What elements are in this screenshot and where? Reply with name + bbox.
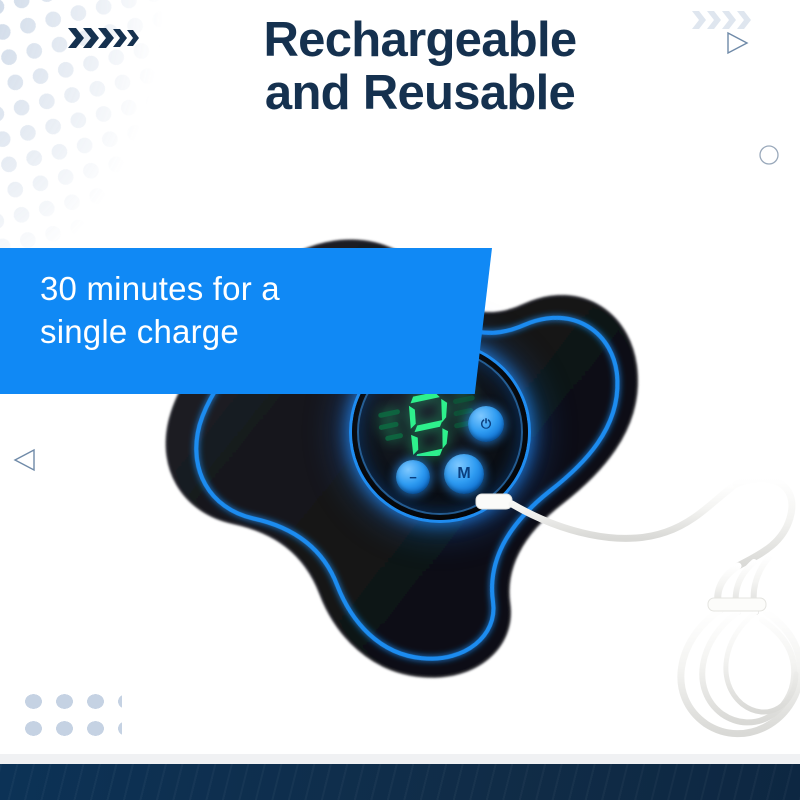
feature-banner-text: 30 minutes for a single charge [40,268,470,354]
mode-button-label: M [457,465,470,483]
product-marketing-card: Rechargeable and Reusable [0,0,800,800]
banner-line-1: 30 minutes for a [40,270,280,307]
band-separator [0,754,800,764]
usb-charging-cable [470,470,800,770]
banner-line-2: single charge [40,311,470,354]
intensity-down-button[interactable]: − [396,460,430,494]
power-button[interactable]: ⏻ [468,406,504,442]
power-button-label: ⏻ [481,416,491,432]
product-photo: ⏻ M − [0,0,800,800]
bottom-navy-band [0,764,800,800]
intensity-down-label: − [409,470,417,485]
